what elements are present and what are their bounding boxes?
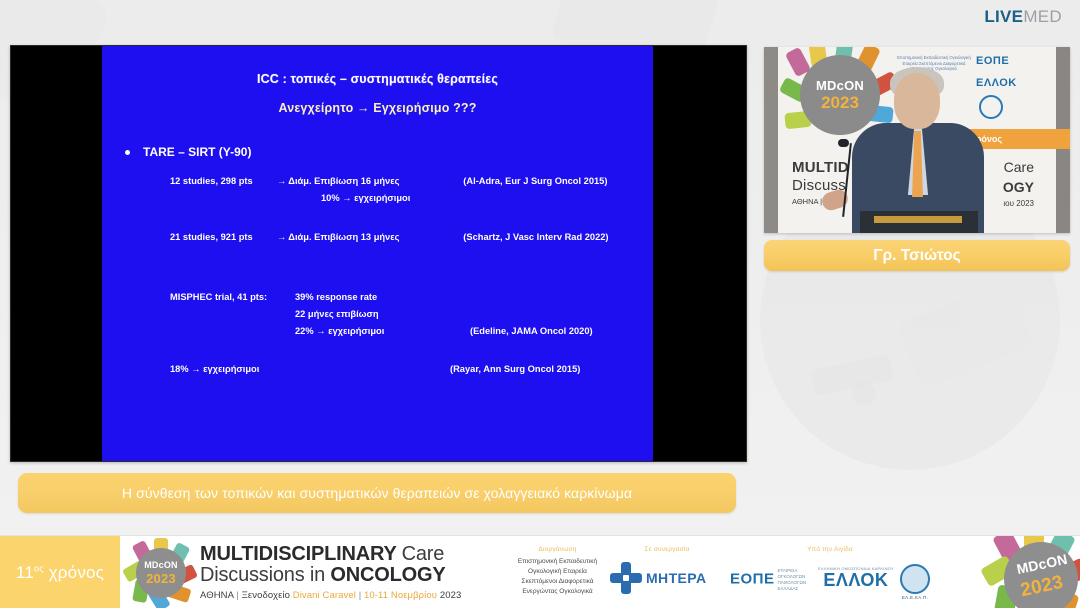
footer-organizer-header: Διοργάνωση — [495, 546, 620, 553]
slide-bullet-label: TARE – SIRT (Y-90) — [143, 145, 251, 159]
row-reference: (Schartz, J Vasc Interv Rad 2022) — [463, 232, 608, 242]
medical-cross-icon — [610, 562, 642, 594]
row-col-a: MISPHEC trial, 41 pts: — [170, 292, 295, 302]
footer-mitera-name: ΜΗΤΕΡΑ — [646, 570, 706, 586]
footer-elekap-logo: ΕΛ.Ε.ΚΑ.Π. — [900, 564, 930, 600]
row-col-a — [170, 193, 275, 203]
slide-title-line2: Ανεγχείρητο → Εγχειρήσιμο ??? — [102, 101, 653, 115]
footer-elekap-name: ΕΛ.Ε.ΚΑ.Π. — [900, 595, 930, 600]
speaker-name-text: Γρ. Τσιώτος — [873, 247, 960, 265]
footer-cooperation-header: Σε συνεργασία — [612, 546, 722, 553]
footer-ellok-logo: ΕΛΛΗΝΙΚΗ ΟΜΟΣΠΟΝΔΙΑ ΚΑΡΚΙΝΟΥ ΕΛΛΟΚ — [818, 566, 894, 589]
row-col-b: 22% → εγχειρήσιμοι — [295, 326, 470, 336]
footer-title-sub: Discussions in — [200, 564, 325, 586]
row-col-b: Διάμ. Επιβίωση 13 μήνες — [288, 232, 463, 242]
backdrop-year-text: ιου 2023 — [1003, 199, 1034, 208]
microphone-icon — [838, 139, 849, 147]
slide-data-row: 21 studies, 921 pts → Διάμ. Επιβίωση 13 … — [170, 232, 609, 242]
footer-title-main: MULTIDISCIPLINARY — [200, 543, 396, 565]
event-footer: 11ος χρόνος MDcON 2023 MULTIDISCIPLINARY… — [0, 535, 1080, 608]
footer-eope-logo: ΕΟΠΕΕΤΑΙΡΕΙΑ ΟΓΚΟΛΟΓΩΝ ΠΑΘΟΛΟΓΩΝ ΕΛΛΑΔΑΣ — [730, 568, 806, 591]
footer-cooperation-block: Σε συνεργασία — [612, 546, 722, 557]
footer-ellok-name: ΕΛΛΟΚ — [818, 571, 894, 589]
footer-mitera-logo: ΜΗΤΕΡΑ — [610, 562, 706, 594]
row-col-b: 39% response rate — [295, 292, 470, 302]
row-col-b: Διάμ. Επιβίωση 16 μήνες — [288, 176, 463, 186]
session-title-text: Η σύνθεση των τοπικών και συστηματικών θ… — [122, 485, 632, 501]
presentation-slide[interactable]: ICC : τοπικές – συστηματικές θεραπείες Α… — [10, 45, 747, 462]
video-left-edge — [764, 47, 778, 233]
row-col-a: 21 studies, 921 pts — [170, 232, 275, 242]
backdrop-mdcon-line2: 2023 — [821, 94, 859, 111]
row-col-a: 12 studies, 298 pts — [170, 176, 275, 186]
slide-canvas: ICC : τοπικές – συστηματικές θεραπείες Α… — [102, 46, 653, 461]
backdrop-title-line1: MULTID — [792, 159, 849, 176]
backdrop-ogy-text: OGY — [1003, 179, 1034, 195]
livemed-logo: LIVEMED — [984, 8, 1062, 25]
slide-data-row: 22% → εγχειρήσιμοι (Edeline, JAMA Oncol … — [170, 326, 593, 336]
speaker-video-feed[interactable]: MDcON 2023 Επιστημονική Εκπαιδευτική Ογκ… — [764, 47, 1070, 233]
row-arrow-icon: → — [275, 176, 288, 186]
footer-eope-name: ΕΟΠΕ — [730, 571, 775, 588]
footer-year-sup: ος — [34, 563, 44, 573]
speaker-head — [894, 73, 940, 129]
livemed-logo-primary: LIVE — [984, 7, 1023, 26]
background-watermark-shape — [810, 354, 894, 396]
row-col-b: 10% → εγχειρήσιμοι — [279, 193, 454, 203]
row-col-b: 22 μήνες επιβίωση — [295, 309, 470, 319]
footer-mdcon-logo-right: MDcON 2023 — [990, 535, 1080, 608]
backdrop-eope-logo: ΕΟΠΕ — [976, 55, 1009, 67]
footer-year-number: 11 — [16, 563, 34, 582]
footer-organizer-block: Διοργάνωση Επιστημονική Εκπαιδευτική Ογκ… — [495, 546, 620, 597]
footer-venue-label: Ξενοδοχείο — [242, 590, 290, 601]
footer-title-oncology: ONCOLOGY — [330, 564, 445, 586]
footer-title-care: Care — [402, 543, 445, 565]
row-reference: (Al-Adra, Eur J Surg Oncol 2015) — [463, 176, 607, 186]
footer-logo-line1: MDcON — [130, 560, 192, 570]
speaker-name-badge: Γρ. Τσιώτος — [764, 240, 1070, 271]
slide-data-row: MISPHEC trial, 41 pts: 39% response rate — [170, 292, 470, 302]
footer-eope-sub: ΕΤΑΙΡΕΙΑ ΟΓΚΟΛΟΓΩΝ ΠΑΘΟΛΟΓΩΝ ΕΛΛΑΔΑΣ — [778, 568, 807, 591]
footer-year-word: χρόνος — [49, 563, 104, 582]
slide-data-row: 18% → εγχειρήσιμοι (Rayar, Ann Surg Onco… — [170, 364, 580, 374]
footer-auspices-header: Υπό την Αιγίδα — [775, 546, 885, 553]
slide-data-row: 12 studies, 298 pts → Διάμ. Επιβίωση 16 … — [170, 176, 607, 186]
slide-title-line1: ICC : τοπικές – συστηματικές θεραπείες — [102, 72, 653, 86]
footer-auspices-block: Υπό την Αιγίδα — [775, 546, 885, 557]
footer-year-badge: 11ος χρόνος — [0, 536, 120, 608]
row-reference: (Rayar, Ann Surg Oncol 2015) — [450, 364, 580, 374]
background-watermark-circle — [960, 280, 1030, 350]
footer-venue-year: 2023 — [440, 590, 462, 601]
row-arrow-icon: → — [275, 232, 288, 242]
footer-organizer-body: Επιστημονική Εκπαιδευτική Ογκολογική Ετα… — [495, 557, 620, 597]
elekap-icon — [900, 564, 930, 594]
footer-venue-dates: 10-11 Νοεμβρίου — [364, 590, 437, 601]
slide-data-row: 22 μήνες επιβίωση — [170, 309, 470, 319]
slide-bullet-item: TARE – SIRT (Y-90) — [125, 145, 251, 159]
bullet-dot-icon — [125, 150, 130, 155]
footer-mdcon-logo: MDcON 2023 — [130, 542, 192, 604]
backdrop-care-text: Care — [1004, 159, 1034, 175]
footer-logo-line2: 2023 — [130, 571, 192, 586]
slide-data-row: 10% → εγχειρήσιμοι — [170, 193, 454, 203]
backdrop-ellok-logo: ΕΛΛΟΚ — [976, 77, 1017, 89]
background-watermark-shape — [896, 280, 1033, 390]
app-root: LIVEMED ICC : τοπικές – συστηματικές θερ… — [0, 0, 1080, 608]
backdrop-mdcon-line1: MDcON — [816, 79, 864, 92]
footer-venue-name: Divani Caravel — [293, 590, 356, 601]
row-col-a — [170, 309, 295, 319]
row-col-a — [170, 326, 295, 336]
backdrop-elekap-icon — [979, 95, 1003, 119]
row-reference: (Edeline, JAMA Oncol 2020) — [470, 326, 593, 336]
livemed-logo-secondary: MED — [1023, 7, 1062, 26]
podium-trim — [874, 216, 962, 223]
backdrop-mdcon-logo: MDcON 2023 — [800, 55, 880, 135]
row-col-a: 18% → εγχειρήσιμοι — [170, 364, 450, 374]
footer-event-title: MULTIDISCIPLINARY Care Discussions in ON… — [200, 544, 461, 601]
background-watermark-circle — [852, 382, 876, 406]
session-title-banner: Η σύνθεση των τοπικών και συστηματικών θ… — [18, 473, 736, 513]
footer-venue-city: ΑΘΗΝΑ — [200, 590, 234, 601]
